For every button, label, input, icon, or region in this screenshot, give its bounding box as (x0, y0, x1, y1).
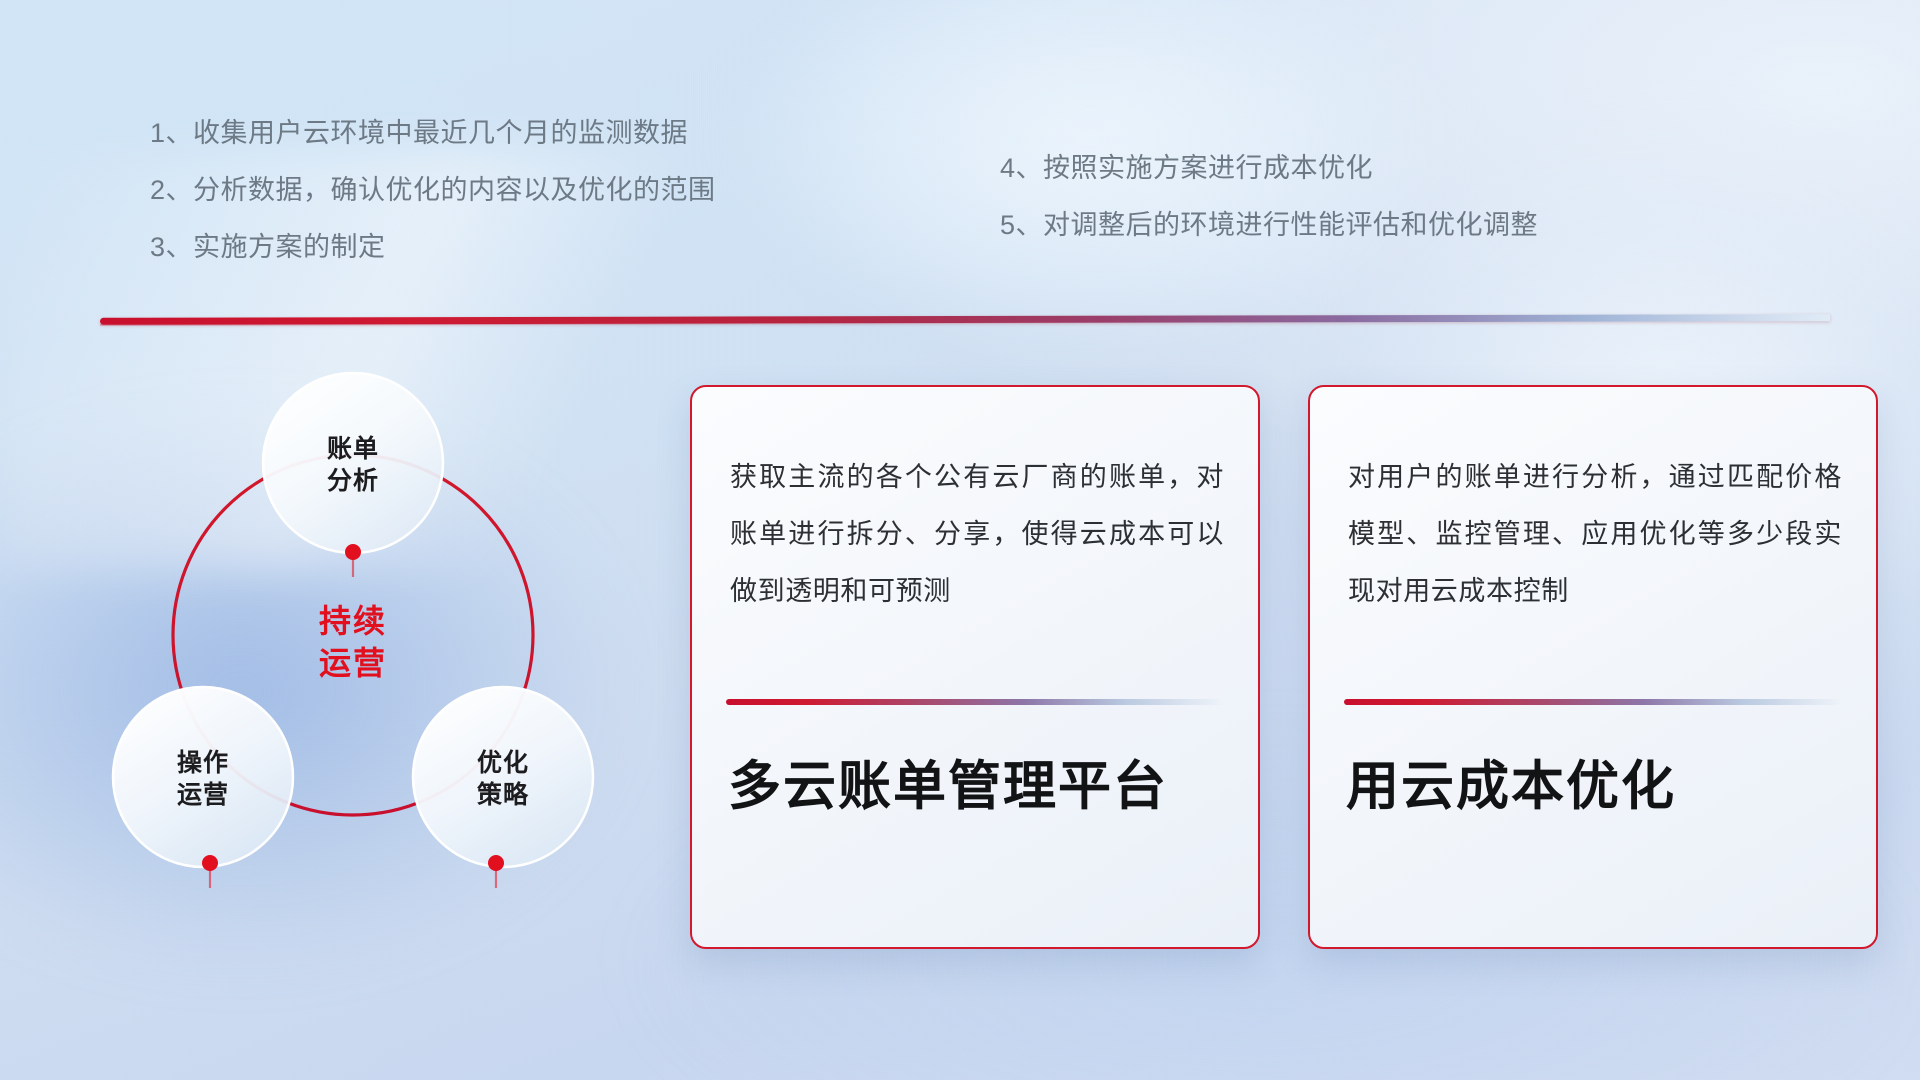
card-title-text: 用云成本优化 (1346, 755, 1846, 819)
bubble-bill-analysis[interactable] (263, 373, 443, 553)
card-cloud-cost-optimization[interactable]: 对用户的账单进行分析，通过匹配价格模型、监控管理、应用优化等多少段实现对用云成本… (1308, 385, 1878, 949)
continuous-operations-diagram: 账单 分析 持续 运营 操作 运营 优化 策略 (100, 345, 660, 945)
steps-list-left: 1、收集用户云环境中最近几个月的监测数据 2、分析数据，确认优化的内容以及优化的… (150, 120, 716, 261)
card-body-text: 获取主流的各个公有云厂商的账单，对账单进行拆分、分享，使得云成本可以做到透明和可… (730, 449, 1224, 621)
connector-dot-bottom-right (488, 855, 504, 871)
step-item-1: 1、收集用户云环境中最近几个月的监测数据 (150, 120, 716, 147)
slide-canvas: 1、收集用户云环境中最近几个月的监测数据 2、分析数据，确认优化的内容以及优化的… (0, 0, 1920, 1080)
card-divider (1344, 699, 1842, 705)
diagram-svg (100, 345, 660, 945)
bubble-operations[interactable] (113, 687, 293, 867)
steps-list-right: 4、按照实施方案进行成本优化 5、对调整后的环境进行性能评估和优化调整 (1000, 155, 1538, 239)
connector-dot-bottom-left (202, 855, 218, 871)
step-item-4: 4、按照实施方案进行成本优化 (1000, 155, 1538, 182)
step-item-3: 3、实施方案的制定 (150, 234, 716, 261)
step-item-2: 2、分析数据，确认优化的内容以及优化的范围 (150, 177, 716, 204)
connector-dot-top (345, 544, 361, 560)
card-body-text: 对用户的账单进行分析，通过匹配价格模型、监控管理、应用优化等多少段实现对用云成本… (1348, 449, 1842, 621)
card-multi-cloud-billing-platform[interactable]: 获取主流的各个公有云厂商的账单，对账单进行拆分、分享，使得云成本可以做到透明和可… (690, 385, 1260, 949)
step-item-5: 5、对调整后的环境进行性能评估和优化调整 (1000, 212, 1538, 239)
card-title-text: 多云账单管理平台 (728, 755, 1228, 819)
card-divider (726, 699, 1224, 705)
bubble-optimization-strategy[interactable] (413, 687, 593, 867)
